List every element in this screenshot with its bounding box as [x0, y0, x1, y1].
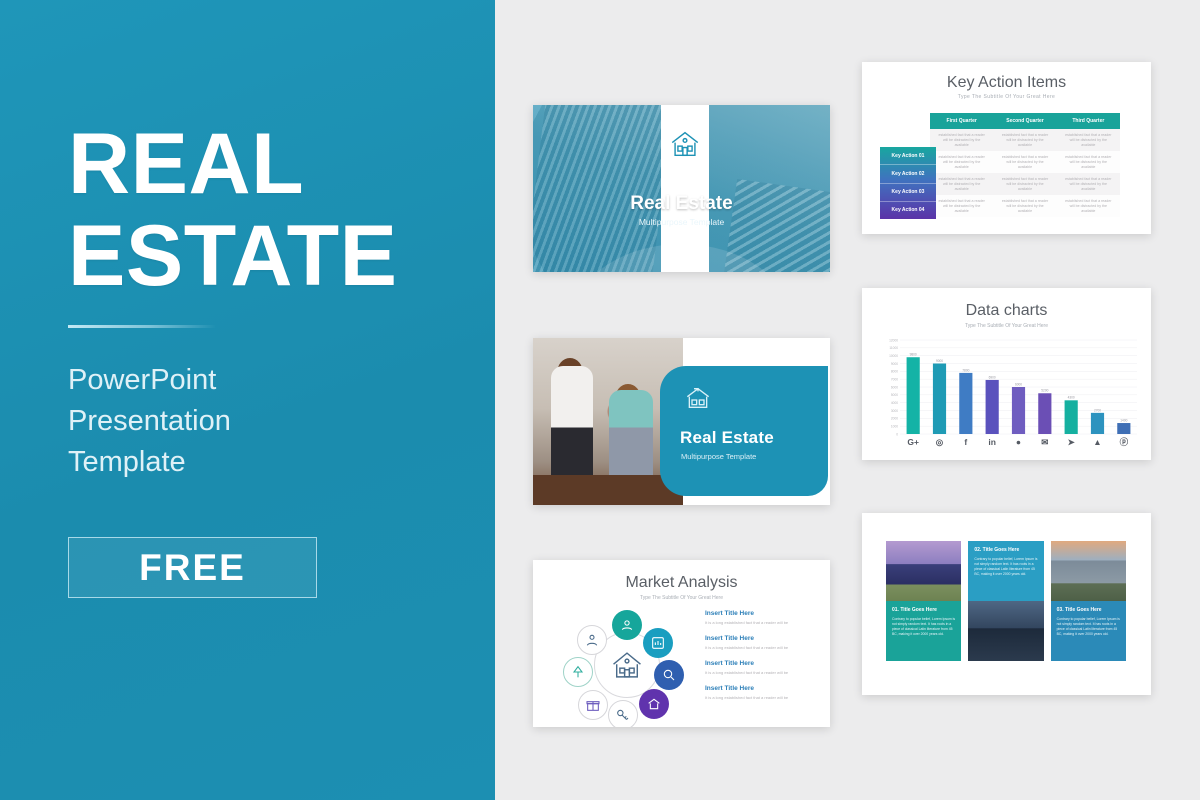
bar-chart-svg: 0100020003000400050006000700080009000100… — [880, 336, 1137, 450]
cover-title: Real Estate — [533, 193, 830, 215]
house-photo — [968, 601, 1043, 661]
gallery-block-body: Contrary to popular belief, Lorem Ipsum … — [974, 557, 1037, 577]
bar-value-label: 4300 — [1068, 396, 1075, 400]
table-cell: established fact that a reader will be d… — [993, 173, 1056, 195]
node-home-badge-icon — [639, 689, 669, 719]
intro-panel: Real Estate Multipurpose Template — [660, 366, 808, 496]
y-axis-tick: 4000 — [891, 401, 898, 405]
house-photo — [1051, 541, 1126, 601]
y-axis-tick: 10000 — [889, 354, 898, 358]
list-item: Insert Title Here It is a long establish… — [705, 635, 815, 650]
table-cell: established fact that a reader will be d… — [993, 195, 1056, 217]
gallery-column: 01. Title Goes Here Contrary to popular … — [886, 541, 961, 666]
bar-value-label: 5200 — [1041, 389, 1048, 393]
circular-diagram — [557, 612, 695, 720]
table-cell: established fact that a reader will be d… — [930, 195, 993, 217]
y-axis-tick: 3000 — [891, 409, 898, 413]
node-tree-icon — [563, 657, 593, 687]
y-axis-tick: 9000 — [891, 362, 898, 366]
key-action-label: Key Action 03 — [880, 184, 936, 202]
data-charts-subtitle: Type The Subtitle Of Your Great Here — [862, 323, 1151, 329]
list-item: Insert Title Here It is a long establish… — [705, 610, 815, 625]
key-action-labels: Key Action 01 Key Action 02 Key Action 0… — [880, 147, 936, 219]
key-action-label: Key Action 01 — [880, 147, 936, 165]
hero-panel: REAL ESTATE PowerPoint Presentation Temp… — [0, 0, 495, 800]
bar — [1065, 400, 1078, 434]
y-axis-tick: 2000 — [891, 417, 898, 421]
y-axis-tick: 8000 — [891, 370, 898, 374]
list-item-body: It is a long established fact that a rea… — [705, 695, 815, 700]
bar — [1091, 413, 1104, 434]
slide-gallery: Real Estate Multipurpose Template Key Ac… — [495, 0, 1200, 800]
node-agent-icon — [577, 625, 607, 655]
node-search-gear-icon — [654, 660, 684, 690]
node-gift-icon — [578, 690, 608, 720]
bar — [1012, 387, 1025, 434]
intro-title: Real Estate — [680, 428, 774, 448]
gallery-block-title: 03. Title Goes Here — [1057, 607, 1120, 613]
list-item-body: It is a long established fact that a rea… — [705, 620, 815, 625]
y-axis-tick: 11000 — [889, 346, 898, 350]
floor-strip — [533, 475, 683, 505]
bar — [959, 373, 972, 434]
key-action-subtitle: Type The Subtitle Of Your Great Here — [862, 94, 1151, 100]
list-item-title: Insert Title Here — [705, 685, 815, 692]
slide-thumbnail-gallery[interactable]: 01. Title Goes Here Contrary to popular … — [862, 513, 1151, 695]
gallery-block-body: Contrary to popular belief, Lorem Ipsum … — [892, 617, 955, 637]
list-item-title: Insert Title Here — [705, 610, 815, 617]
free-badge-label: FREE — [139, 547, 246, 589]
table-cell: established fact that a reader will be d… — [930, 173, 993, 195]
table-cell: established fact that a reader will be d… — [930, 151, 993, 173]
house-icon — [682, 382, 714, 414]
bar-value-label: 9000 — [936, 359, 943, 363]
whatsapp-icon: ● — [1016, 437, 1021, 447]
gallery-block: 01. Title Goes Here Contrary to popular … — [886, 601, 961, 661]
intro-subtitle: Multipurpose Template — [681, 452, 756, 461]
bar-value-label: 2700 — [1094, 408, 1101, 412]
gallery-block-body: Contrary to popular belief, Lorem Ipsum … — [1057, 617, 1120, 637]
twitter-icon: ✉ — [1041, 437, 1049, 447]
cover-subtitle: Multipurpose Template — [533, 217, 830, 227]
bar — [933, 364, 946, 435]
hero-subtitle: PowerPoint Presentation Template — [68, 360, 231, 483]
slide-thumbnail-cover[interactable]: Real Estate Multipurpose Template — [533, 105, 830, 272]
node-user-group-icon — [612, 610, 642, 640]
bar — [907, 357, 920, 434]
gallery-block: 02. Title Goes Here Contrary to popular … — [968, 541, 1043, 601]
bar-value-label: 6000 — [1015, 382, 1022, 386]
list-item: Insert Title Here It is a long establish… — [705, 685, 815, 700]
gallery-grid: 01. Title Goes Here Contrary to popular … — [886, 541, 1126, 666]
bar-value-label: 7800 — [962, 368, 969, 372]
bar — [1117, 423, 1130, 434]
market-analysis-list: Insert Title Here It is a long establish… — [705, 610, 815, 710]
wechat-icon: ➤ — [1068, 437, 1076, 447]
slide-thumbnail-data-charts[interactable]: Data charts Type The Subtitle Of Your Gr… — [862, 288, 1151, 460]
house-photo — [886, 541, 961, 601]
table-row: established fact that a reader will be d… — [930, 195, 1120, 217]
key-action-label: Key Action 02 — [880, 165, 936, 183]
table-cell: established fact that a reader will be d… — [993, 129, 1056, 151]
table-cell: established fact that a reader will be d… — [1057, 195, 1120, 217]
y-axis-tick: 6000 — [891, 385, 898, 389]
list-item-title: Insert Title Here — [705, 635, 815, 642]
market-analysis-subtitle: Type The Subtitle Of Your Great Here — [533, 595, 830, 601]
bar — [1038, 393, 1051, 434]
bar — [986, 380, 999, 434]
table-row: established fact that a reader will be d… — [930, 151, 1120, 173]
gallery-block-title: 02. Title Goes Here — [974, 547, 1037, 553]
data-charts-title: Data charts — [862, 302, 1151, 320]
title-divider — [68, 325, 216, 328]
table-col-header-3: Third Quarter — [1057, 113, 1120, 129]
house-icon — [661, 105, 709, 183]
bar-value-label: 6900 — [989, 375, 996, 379]
table-row: established fact that a reader will be d… — [930, 129, 1120, 151]
key-action-table: First Quarter Second Quarter Third Quart… — [930, 113, 1120, 217]
slide-thumbnail-intro[interactable]: Real Estate Multipurpose Template — [533, 338, 830, 505]
list-item-title: Insert Title Here — [705, 660, 815, 667]
snapchat-icon: ▲ — [1093, 437, 1101, 447]
google-plus-icon: G+ — [907, 437, 919, 447]
node-key-icon — [608, 700, 638, 727]
y-axis-tick: 12000 — [889, 338, 898, 342]
instagram-icon: ◎ — [936, 437, 944, 447]
key-action-title: Key Action Items — [862, 74, 1151, 92]
y-axis-tick: 1000 — [891, 424, 898, 428]
bar-value-label: 9800 — [910, 353, 917, 357]
list-item-body: It is a long established fact that a rea… — [705, 670, 815, 675]
house-icon — [604, 642, 650, 688]
gallery-block-title: 01. Title Goes Here — [892, 607, 955, 613]
pinterest-icon: ⓟ — [1120, 437, 1129, 447]
y-axis-tick: 5000 — [891, 393, 898, 397]
y-axis-tick: 7000 — [891, 377, 898, 381]
linkedin-icon: in — [988, 437, 996, 447]
list-item: Insert Title Here It is a long establish… — [705, 660, 815, 675]
bar-value-label: 1400 — [1120, 418, 1127, 422]
key-action-label: Key Action 04 — [880, 202, 936, 219]
table-row: established fact that a reader will be d… — [930, 173, 1120, 195]
table-cell: established fact that a reader will be d… — [930, 129, 993, 151]
table-cell: established fact that a reader will be d… — [1057, 129, 1120, 151]
table-cell: established fact that a reader will be d… — [993, 151, 1056, 173]
slide-thumbnail-market-analysis[interactable]: Market Analysis Type The Subtitle Of You… — [533, 560, 830, 727]
slide-thumbnail-key-action-items[interactable]: Key Action Items Type The Subtitle Of Yo… — [862, 62, 1151, 234]
table-cell: established fact that a reader will be d… — [1057, 151, 1120, 173]
node-people-chart-icon — [643, 628, 673, 658]
market-analysis-title: Market Analysis — [533, 574, 830, 592]
gallery-block: 03. Title Goes Here Contrary to popular … — [1051, 601, 1126, 661]
gallery-column: 03. Title Goes Here Contrary to popular … — [1051, 541, 1126, 666]
free-badge[interactable]: FREE — [68, 537, 317, 598]
y-axis-tick: 0 — [896, 432, 898, 436]
table-header-row: First Quarter Second Quarter Third Quart… — [930, 113, 1120, 129]
table-col-header-2: Second Quarter — [993, 113, 1056, 129]
facebook-icon: f — [964, 437, 967, 447]
page-title: REAL ESTATE — [68, 118, 398, 302]
table-cell: established fact that a reader will be d… — [1057, 173, 1120, 195]
gallery-column: 02. Title Goes Here Contrary to popular … — [968, 541, 1043, 666]
table-col-header-1: First Quarter — [930, 113, 993, 129]
list-item-body: It is a long established fact that a rea… — [705, 645, 815, 650]
bar-chart: 0100020003000400050006000700080009000100… — [880, 336, 1137, 450]
